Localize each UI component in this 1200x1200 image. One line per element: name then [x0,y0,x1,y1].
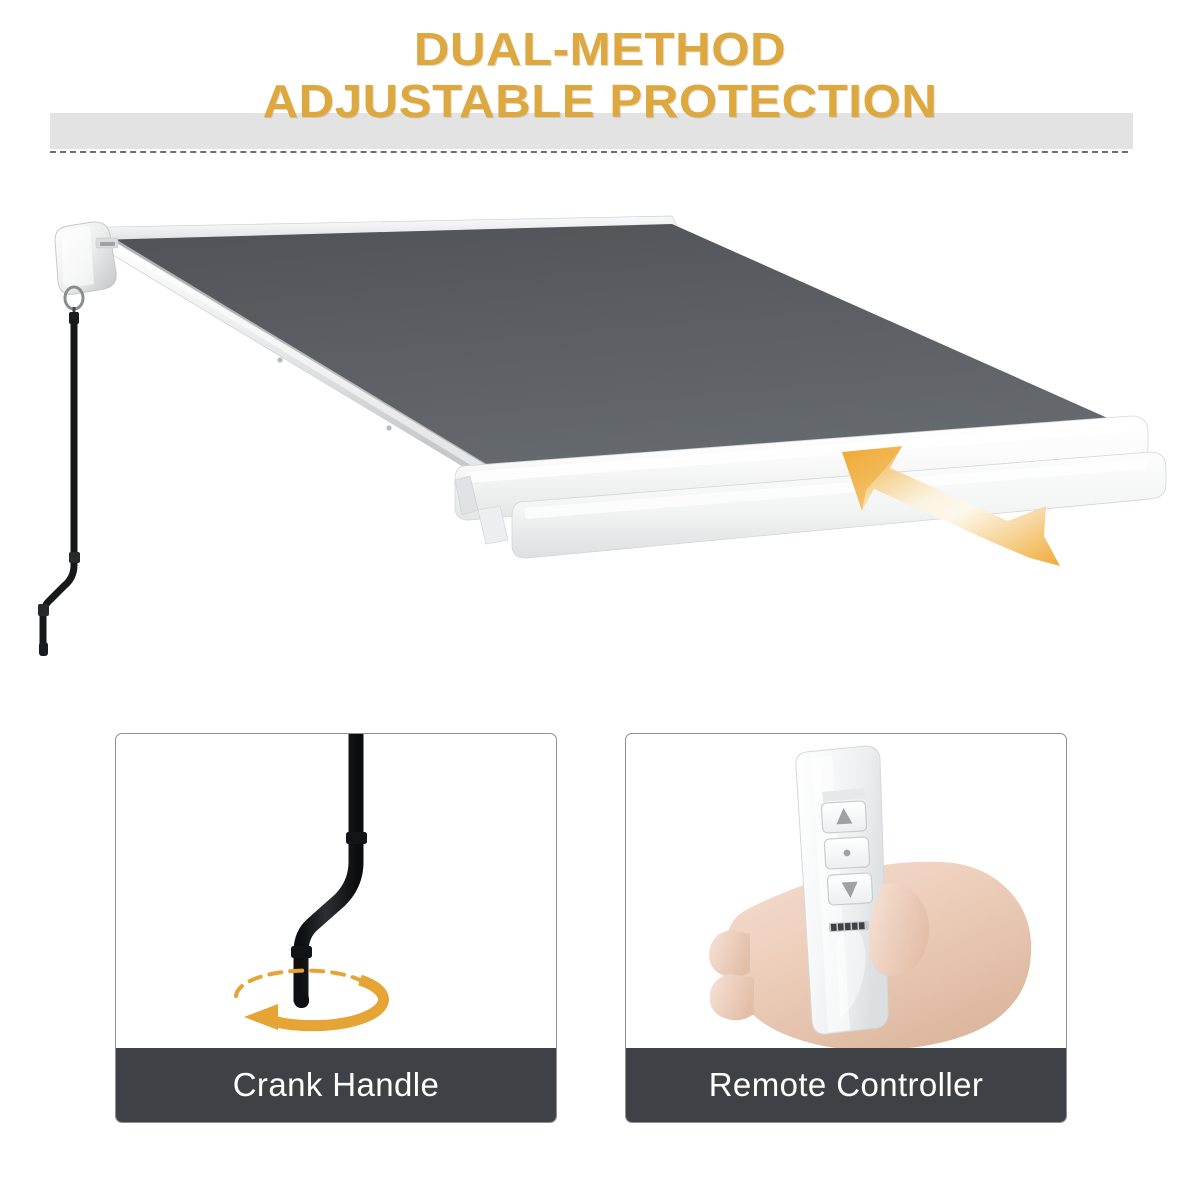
header-dashed-divider [50,151,1128,153]
panel-label-text: Remote Controller [709,1066,984,1104]
page-title: DUAL-METHOD ADJUSTABLE PROTECTION [0,26,1200,124]
awning-hero-image [0,180,1200,700]
awning-wall-bracket [55,222,118,294]
crank-handle-rod-icon [116,734,556,1054]
title-line-1: DUAL-METHOD [0,26,1200,72]
remote-stop-button[interactable] [824,837,870,869]
remote-controller-figure [626,734,1066,1054]
remote-down-button[interactable] [827,873,873,905]
header-banner: DUAL-METHOD ADJUSTABLE PROTECTION [0,0,1200,175]
feature-panel-crank-handle[interactable]: Crank Handle [115,733,557,1123]
panel-label-crank-handle: Crank Handle [116,1048,556,1122]
hand-finger-2 [710,974,754,1020]
crank-handle-figure [116,734,556,1054]
feature-panel-remote-controller[interactable]: Remote Controller [625,733,1067,1123]
title-line-2: ADJUSTABLE PROTECTION [0,78,1200,124]
crank-rod-assembly [38,287,83,656]
awning-illustration [0,180,1200,700]
panel-label-text: Crank Handle [233,1066,440,1104]
hand-holding-remote-icon [626,734,1066,1054]
panel-label-remote-controller: Remote Controller [626,1048,1066,1122]
remote-up-button[interactable] [821,801,867,833]
hand-finger-1 [709,930,750,978]
